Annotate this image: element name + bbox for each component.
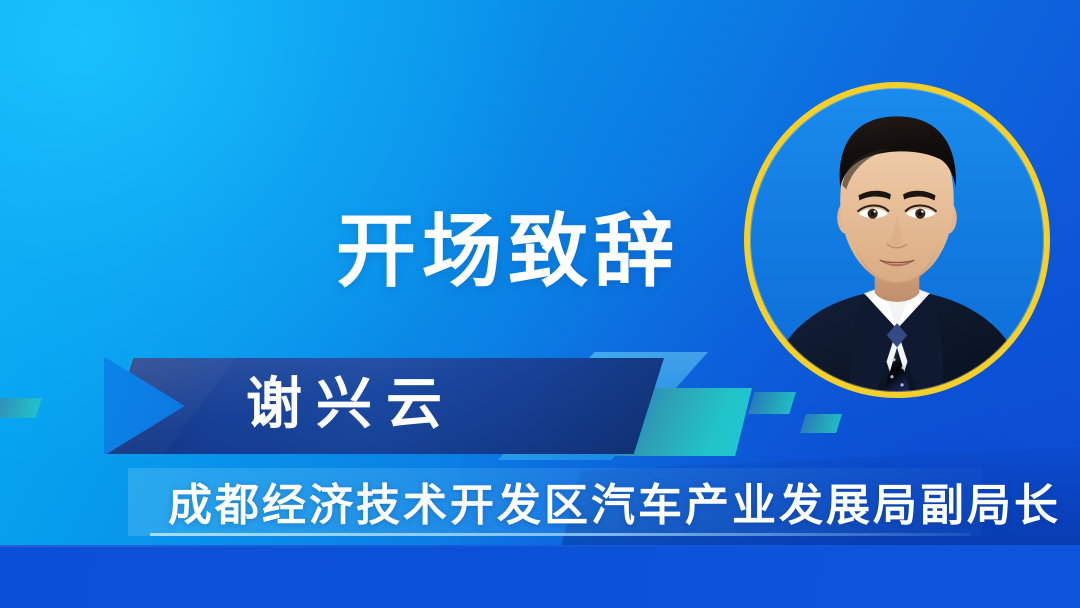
presentation-slide: 开场致辞 谢兴云 成都经济技术开发区汽车产业发展局副局长 [0, 0, 1080, 608]
portrait-gold-ring [744, 82, 1050, 398]
speaker-name: 谢兴云 [246, 370, 456, 437]
slide-title: 开场致辞 [336, 206, 680, 298]
speaker-title-underline [150, 533, 970, 536]
speaker-portrait [744, 82, 1050, 398]
speaker-title: 成都经济技术开发区汽车产业发展局副局长 [168, 478, 1061, 533]
background-bottom-band [0, 545, 1080, 608]
